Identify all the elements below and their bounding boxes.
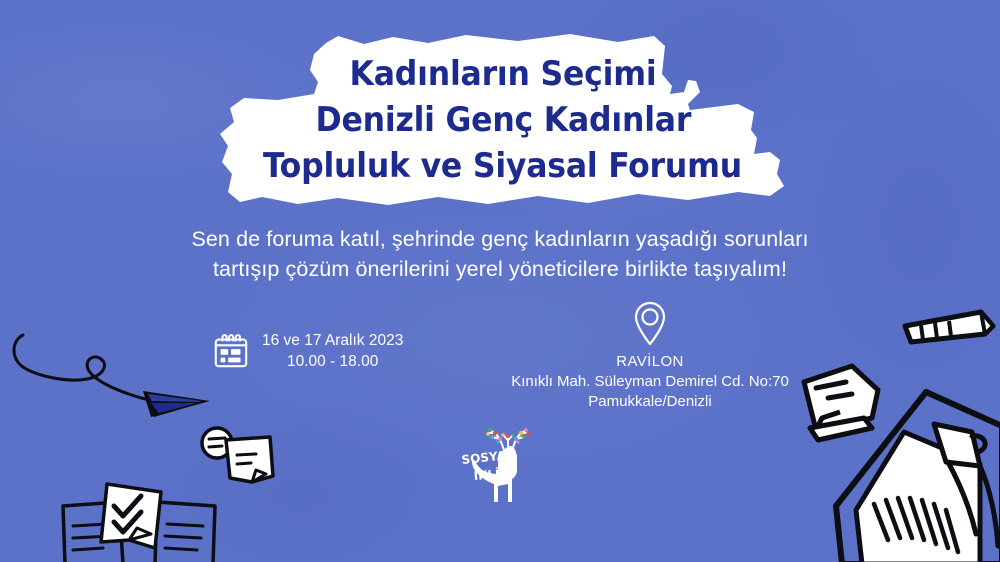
- pencil-doodle: [893, 300, 998, 358]
- venue-address-line-1: Kınıklı Mah. Süleyman Demirel Cd. No:70: [490, 372, 810, 392]
- map-pin-icon: [630, 300, 670, 346]
- notebook-coffee-doodle: [830, 388, 1000, 562]
- event-hours: 10.00 - 18.00: [262, 351, 403, 372]
- venue-address-line-2: Pamukkale/Denizli: [490, 392, 810, 412]
- title-line-3: Topluluk ve Siyasal Forumu: [264, 143, 743, 189]
- venue-name: RAVİLON: [490, 352, 810, 372]
- title-line-1: Kadınların Seçimi: [350, 51, 657, 97]
- paper-airplane-doodle: [5, 305, 220, 420]
- sosyal-iklim-deer-logo: SOSYAL İKLİM: [452, 420, 552, 512]
- title-banner: Kadınların Seçimi Denizli Genç Kadınlar …: [218, 34, 788, 206]
- subtitle-line-1: Sen de foruma katıl, şehrinde genç kadın…: [0, 224, 1000, 254]
- event-dates: 16 ve 17 Aralık 2023: [262, 330, 403, 351]
- subtitle: Sen de foruma katıl, şehrinde genç kadın…: [0, 224, 1000, 284]
- subtitle-line-2: tartışıp çözüm önerilerini yerel yönetic…: [0, 254, 1000, 284]
- date-info: 16 ve 17 Aralık 2023 10.00 - 18.00: [212, 330, 403, 372]
- checklist-papers-doodle: [55, 478, 225, 562]
- logo-word-2: İKLİM: [473, 465, 512, 483]
- title-line-2: Denizli Genç Kadınlar: [315, 97, 691, 143]
- date-text-block: 16 ve 17 Aralık 2023 10.00 - 18.00: [262, 330, 403, 372]
- event-poster: Kadınların Seçimi Denizli Genç Kadınlar …: [0, 0, 1000, 562]
- location-info: RAVİLON Kınıklı Mah. Süleyman Demirel Cd…: [490, 300, 810, 412]
- location-text-block: RAVİLON Kınıklı Mah. Süleyman Demirel Cd…: [490, 352, 810, 412]
